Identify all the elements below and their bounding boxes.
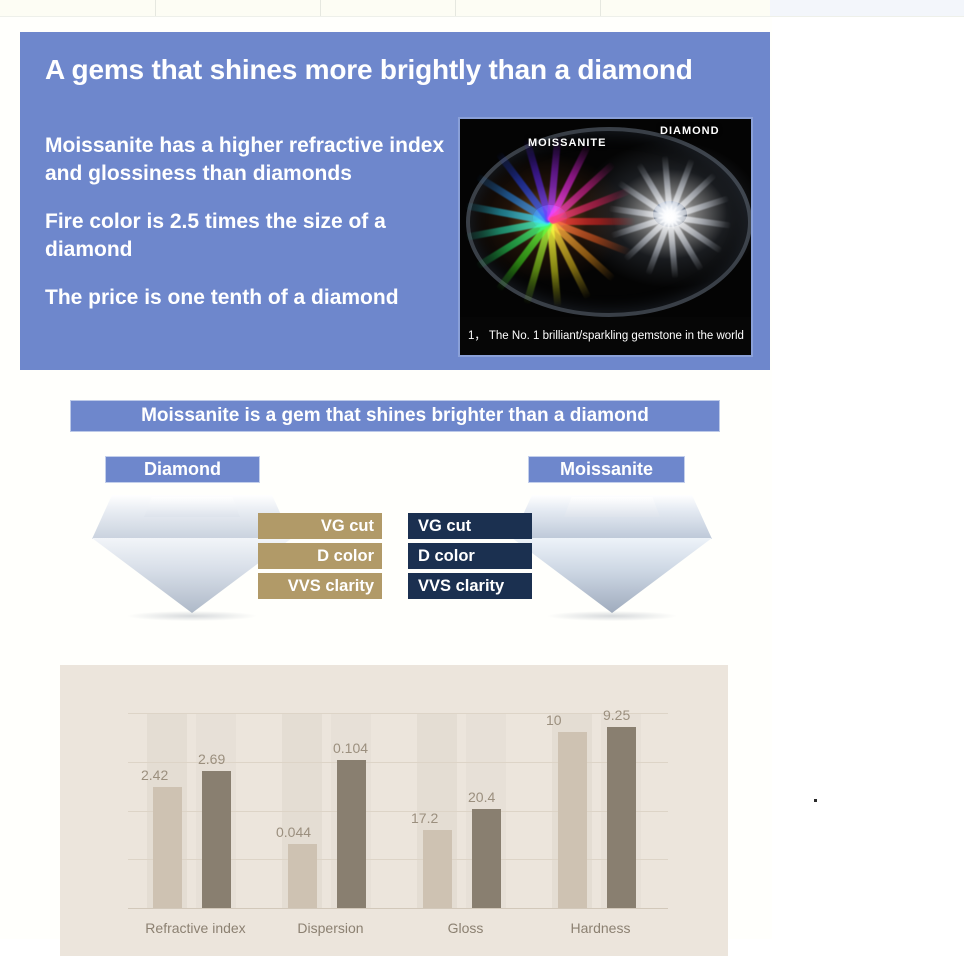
strip-right-pad [770, 0, 964, 16]
spec-row-cut: VG cut [408, 513, 532, 539]
gem-pavilion [512, 538, 712, 613]
chart-gridline [128, 713, 668, 714]
chart-bar-moissanite [472, 809, 501, 908]
chart-bar-moissanite [337, 760, 366, 908]
cell-divider [455, 0, 456, 16]
chart-category-label: Gloss [398, 920, 533, 936]
spec-row-clarity: VVS clarity [258, 573, 382, 599]
chart-bar-value: 0.044 [276, 824, 311, 840]
page-right-margin [772, 17, 964, 939]
photo-label-moissanite: MOISSANITE [528, 137, 606, 149]
spec-row-color: D color [258, 543, 382, 569]
chart-category-label: Hardness [533, 920, 668, 936]
label-chip-diamond: Diamond [105, 456, 260, 483]
spec-list-diamond: VG cut D color VVS clarity [258, 513, 382, 603]
hero-paragraph-1: Moissanite has a higher refractive index… [45, 132, 465, 188]
chart-plot-area: 2.422.69Refractive index0.0440.104Disper… [128, 713, 668, 908]
gem-shadow [128, 611, 256, 621]
chart-category-label: Refractive index [128, 920, 263, 936]
chart-bar-moissanite [202, 771, 231, 908]
spec-list-moissanite: VG cut D color VVS clarity [408, 513, 532, 603]
property-comparison-chart: 2.422.69Refractive index0.0440.104Disper… [60, 665, 728, 956]
chart-category-label: Dispersion [263, 920, 398, 936]
label-chip-moissanite: Moissanite [528, 456, 685, 483]
hero-paragraph-3: The price is one tenth of a diamond [45, 284, 465, 312]
chart-bar-value: 0.104 [333, 740, 368, 756]
hero-paragraph-2: Fire color is 2.5 times the size of a di… [45, 208, 465, 264]
page-title: A gems that shines more brightly than a … [45, 54, 745, 86]
chart-bar-value: 9.25 [603, 707, 630, 723]
photo-label-diamond: DIAMOND [660, 125, 720, 137]
document-canvas: A gems that shines more brightly than a … [0, 17, 772, 939]
chart-bar-moissanite [607, 727, 636, 908]
spec-row-clarity: VVS clarity [408, 573, 532, 599]
photo-stage: MOISSANITE DIAMOND [460, 119, 751, 317]
hero-body-text: Moissanite has a higher refractive index… [45, 132, 465, 312]
chart-axis-line [128, 908, 668, 909]
chart-bar-value: 17.2 [411, 810, 438, 826]
subtitle-banner: Moissanite is a gem that shines brighter… [70, 400, 720, 432]
gemstone-comparison-photo: MOISSANITE DIAMOND 1， The No. 1 brillian… [458, 117, 753, 357]
spec-row-color: D color [408, 543, 532, 569]
cursor-speck [814, 799, 817, 802]
chart-bar-value: 20.4 [468, 789, 495, 805]
hero-panel: A gems that shines more brightly than a … [20, 32, 770, 370]
cell-divider [320, 0, 321, 16]
cell-divider [600, 0, 601, 16]
chart-bar-value: 10 [546, 712, 562, 728]
chart-bar-value: 2.42 [141, 767, 168, 783]
gem-shadow [548, 611, 676, 621]
top-spreadsheet-strip [0, 0, 964, 17]
chart-bar-diamond [558, 732, 587, 908]
photo-caption: 1， The No. 1 brilliant/sparkling gemston… [460, 317, 751, 355]
moissanite-illustration [512, 495, 712, 613]
chart-bar-value: 2.69 [198, 751, 225, 767]
chart-bar-diamond [288, 844, 317, 908]
chart-bar-diamond [423, 830, 452, 908]
chart-bar-diamond [153, 787, 182, 908]
gem-table-facet [144, 497, 240, 517]
cell-divider [155, 0, 156, 16]
spec-row-cut: VG cut [258, 513, 382, 539]
gem-table-facet [564, 497, 660, 517]
